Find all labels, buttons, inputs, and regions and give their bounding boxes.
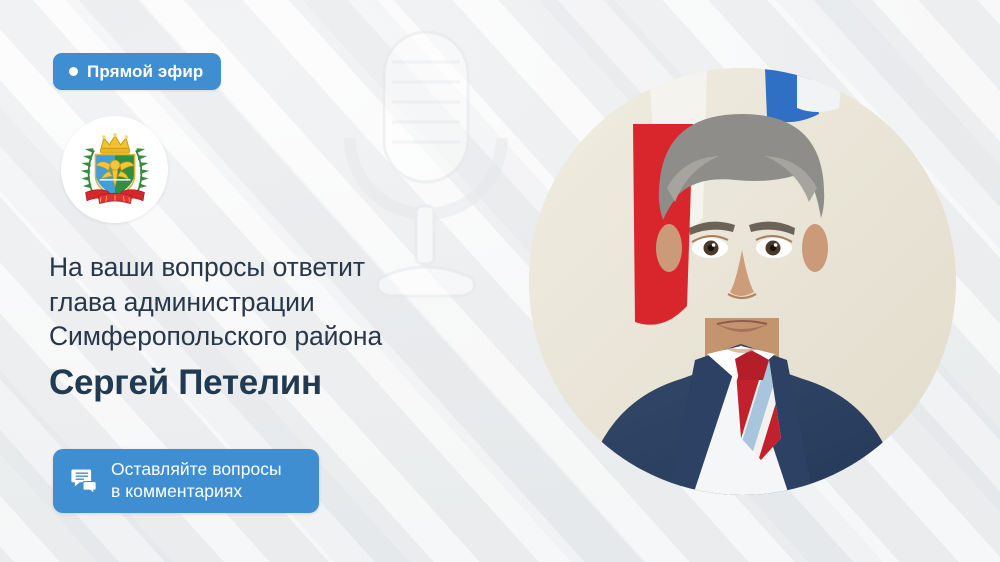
live-badge: Прямой эфир: [53, 53, 221, 90]
leave-questions-label: Оставляйте вопросы в комментариях: [111, 459, 282, 502]
headline: На ваши вопросы ответит глава администра…: [49, 250, 489, 354]
broadcast-announcement-card: Прямой эфир: [0, 0, 1000, 562]
headline-line-2: глава администрации: [49, 285, 489, 320]
portrait-photo: [529, 68, 956, 495]
live-badge-label: Прямой эфир: [87, 62, 203, 82]
speaker-portrait: [529, 68, 956, 495]
headline-line-1: На ваши вопросы ответит: [49, 250, 489, 285]
speaker-name: Сергей Петелин: [49, 363, 322, 403]
cta-line-2: в комментариях: [111, 481, 282, 503]
comment-bubbles-icon: [71, 468, 98, 494]
cta-line-1: Оставляйте вопросы: [111, 459, 282, 481]
leave-questions-button[interactable]: Оставляйте вопросы в комментариях: [53, 449, 319, 513]
headline-line-3: Симферопольского района: [49, 319, 489, 354]
district-emblem: [61, 116, 168, 223]
coat-of-arms-icon: [73, 128, 157, 212]
live-dot-icon: [69, 67, 78, 76]
